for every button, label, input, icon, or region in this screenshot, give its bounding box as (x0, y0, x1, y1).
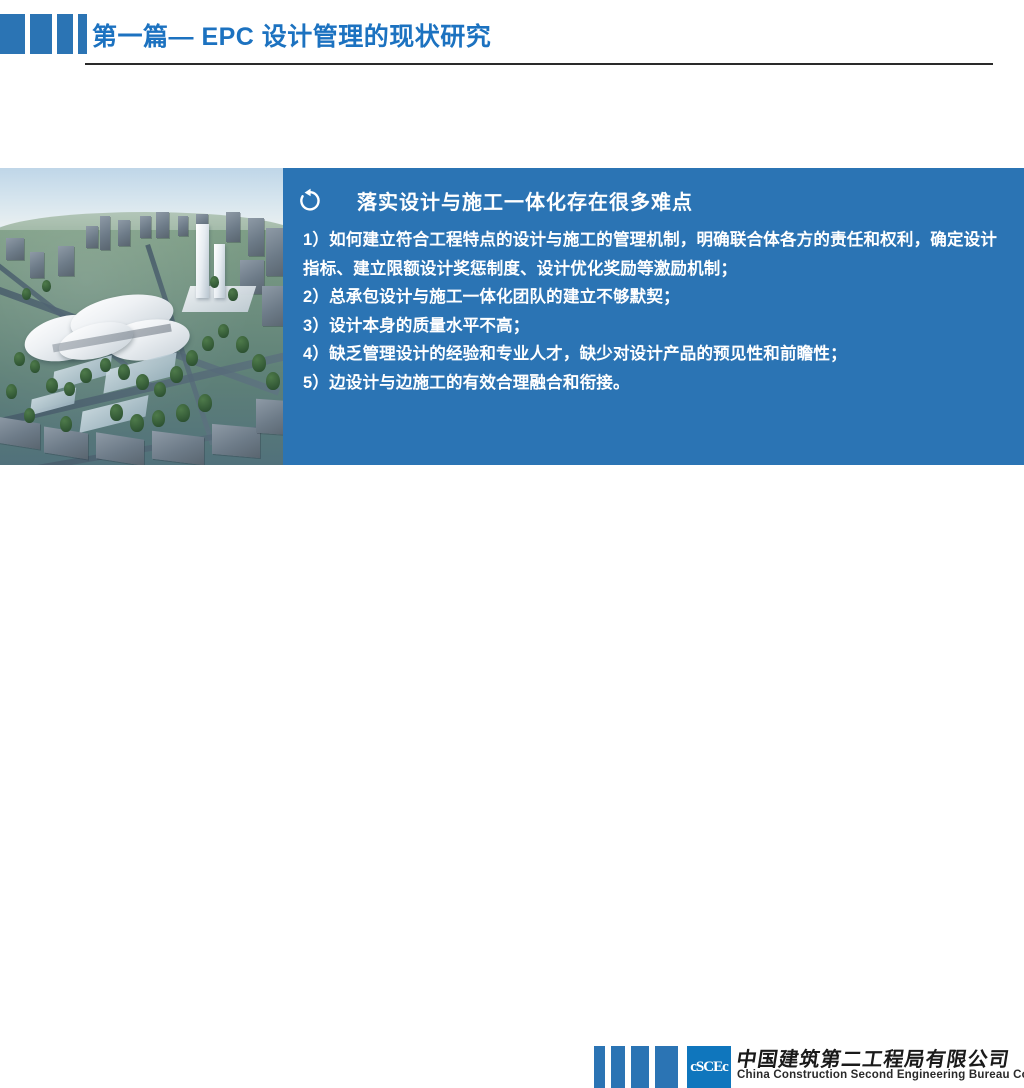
panel-item-list: 1）如何建立符合工程特点的设计与施工的管理机制，明确联合体各方的责任和权利，确定… (303, 226, 1003, 397)
city-block (212, 424, 260, 458)
header-decor-bars (0, 14, 92, 54)
panel-heading-row: 落实设计与施工一体化存在很多难点 (297, 186, 693, 215)
city-block (118, 220, 130, 246)
city-block (248, 218, 264, 256)
footer-bar-1 (594, 1046, 605, 1088)
tree (130, 414, 144, 432)
city-block (86, 226, 98, 248)
page-title: 第一篇— EPC 设计管理的现状研究 (92, 17, 491, 53)
header-bar-3 (57, 14, 73, 54)
list-item: 5）边设计与边施工的有效合理融合和衔接。 (303, 369, 1003, 398)
footer-bar-3 (631, 1046, 649, 1088)
tree (30, 360, 40, 373)
tree (22, 288, 31, 300)
panel-heading: 落实设计与施工一体化存在很多难点 (357, 186, 693, 215)
city-block (100, 216, 110, 250)
footer-bar-2 (611, 1046, 625, 1088)
slide-footer: cSCEc 中国建筑第二工程局有限公司 China Construction S… (0, 520, 1024, 576)
footer-decor-bars (594, 1046, 684, 1088)
city-block (156, 212, 169, 238)
tree (100, 358, 111, 372)
tree (266, 372, 280, 390)
city-block (58, 246, 74, 276)
city-block (30, 252, 44, 278)
tree (176, 404, 190, 422)
tree (252, 354, 266, 372)
company-name-cn: 中国建筑第二工程局有限公司 (735, 1043, 1013, 1072)
cscec-logo-icon: cSCEc (687, 1046, 731, 1088)
list-item: 2）总承包设计与施工一体化团队的建立不够默契； (303, 283, 1003, 312)
tree (110, 404, 123, 421)
list-item: 3）设计本身的质量水平不高； (303, 312, 1003, 341)
tree (170, 366, 183, 383)
tree (64, 382, 75, 396)
tower-1 (196, 224, 209, 298)
footer-bar-4 (655, 1046, 678, 1088)
aerial-rendering-image (0, 168, 288, 465)
tree (6, 384, 17, 399)
header-divider (85, 63, 993, 65)
tower-2 (214, 244, 225, 298)
city-block (152, 431, 204, 465)
tree (42, 280, 51, 292)
rotate-ccw-icon (297, 188, 323, 214)
tree (186, 350, 198, 366)
tree (46, 378, 58, 393)
list-item: 4）缺乏管理设计的经验和专业人才，缺少对设计产品的预见性和前瞻性； (303, 340, 1003, 369)
tree (24, 408, 35, 423)
city-block (178, 216, 188, 236)
list-item: 1）如何建立符合工程特点的设计与施工的管理机制，明确联合体各方的责任和权利，确定… (303, 226, 1003, 283)
tree (202, 336, 214, 351)
header-bar-2 (30, 14, 52, 54)
header-bar-4 (78, 14, 87, 54)
tree (154, 382, 166, 397)
tree (14, 352, 25, 366)
tree (228, 288, 238, 301)
tree (152, 410, 165, 427)
company-name-en: China Construction Second Engineering Bu… (737, 1069, 1024, 1081)
content-panel: 落实设计与施工一体化存在很多难点 1）如何建立符合工程特点的设计与施工的管理机制… (283, 168, 1024, 465)
tree (210, 276, 219, 288)
tree (218, 324, 229, 338)
tree (118, 364, 130, 380)
tree (80, 368, 92, 383)
tree (136, 374, 149, 390)
tree (236, 336, 249, 353)
city-block (140, 216, 151, 238)
header-bar-1 (0, 14, 25, 54)
tree (198, 394, 212, 412)
city-block (6, 238, 24, 260)
slide-root: 第一篇— EPC 设计管理的现状研究 (0, 0, 1024, 576)
city-block (226, 212, 240, 242)
tree (60, 416, 72, 432)
